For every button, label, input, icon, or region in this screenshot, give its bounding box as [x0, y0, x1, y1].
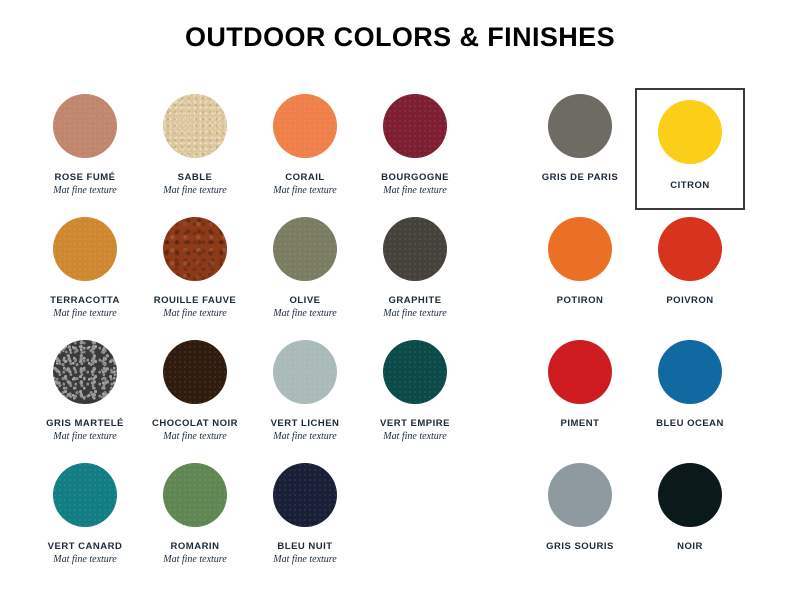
swatch-finish-label: Mat fine texture: [383, 185, 447, 197]
swatch-finish-label: Mat fine texture: [163, 554, 227, 566]
swatch-cell-gris-de-paris[interactable]: GRIS DE PARIS: [525, 88, 635, 184]
swatch-name: VERT EMPIRE: [380, 418, 450, 430]
swatch-cell-chocolat-noir[interactable]: CHOCOLAT NOIRMat fine texture: [140, 334, 250, 443]
swatch-finish-label: Mat fine texture: [273, 185, 337, 197]
swatch-cell-bourgogne[interactable]: BOURGOGNEMat fine texture: [360, 88, 470, 197]
swatch-cell-gris-martele[interactable]: GRIS MARTELÉMat fine texture: [30, 334, 140, 443]
color-swatch-disc[interactable]: [273, 94, 337, 158]
swatch-name: GRIS DE PARIS: [542, 172, 619, 184]
color-swatch-disc[interactable]: [548, 340, 612, 404]
color-swatch-disc[interactable]: [273, 463, 337, 527]
swatch-name: ROUILLE FAUVE: [154, 295, 237, 307]
swatch-cell-terracotta[interactable]: TERRACOTTAMat fine texture: [30, 211, 140, 320]
swatch-row: VERT CANARDMat fine textureROMARINMat fi…: [30, 457, 770, 580]
swatch-name: NOIR: [677, 541, 703, 553]
color-swatch-disc[interactable]: [658, 217, 722, 281]
swatch-name: VERT CANARD: [48, 541, 123, 553]
swatch-cell-vert-empire[interactable]: VERT EMPIREMat fine texture: [360, 334, 470, 443]
color-swatch-disc[interactable]: [163, 217, 227, 281]
swatch-name: BOURGOGNE: [381, 172, 449, 184]
color-swatch-disc[interactable]: [163, 340, 227, 404]
swatch-name: CHOCOLAT NOIR: [152, 418, 238, 430]
swatch-finish-label: Mat fine texture: [53, 431, 117, 443]
swatch-cell-romarin[interactable]: ROMARINMat fine texture: [140, 457, 250, 566]
swatch-name: POTIRON: [557, 295, 604, 307]
swatch-finish-label: Mat fine texture: [273, 431, 337, 443]
swatch-name: VERT LICHEN: [271, 418, 340, 430]
swatch-cell-rose-fume[interactable]: ROSE FUMÉMat fine texture: [30, 88, 140, 197]
swatch-name: CITRON: [670, 180, 709, 192]
swatch-name: CORAIL: [285, 172, 324, 184]
swatch-row: GRIS MARTELÉMat fine textureCHOCOLAT NOI…: [30, 334, 770, 457]
color-swatch-disc[interactable]: [163, 94, 227, 158]
swatch-cell-graphite[interactable]: GRAPHITEMat fine texture: [360, 211, 470, 320]
color-swatch-disc[interactable]: [383, 217, 447, 281]
swatch-finish-label: Mat fine texture: [53, 554, 117, 566]
swatch-name: OLIVE: [289, 295, 320, 307]
swatch-name: GRIS MARTELÉ: [46, 418, 124, 430]
color-swatch-disc[interactable]: [53, 94, 117, 158]
swatch-name: BLEU NUIT: [277, 541, 332, 553]
color-swatch-disc[interactable]: [53, 340, 117, 404]
swatch-row: TERRACOTTAMat fine textureROUILLE FAUVEM…: [30, 211, 770, 334]
swatch-row: ROSE FUMÉMat fine textureSABLEMat fine t…: [30, 88, 770, 211]
swatch-name: POIVRON: [666, 295, 713, 307]
swatch-cell-piment[interactable]: PIMENT: [525, 334, 635, 430]
swatch-name: BLEU OCEAN: [656, 418, 724, 430]
swatch-cell-sable[interactable]: SABLEMat fine texture: [140, 88, 250, 197]
swatch-cell-noir[interactable]: NOIR: [635, 457, 745, 553]
color-swatch-disc[interactable]: [273, 340, 337, 404]
swatch-cell-poivron[interactable]: POIVRON: [635, 211, 745, 307]
swatch-name: GRAPHITE: [388, 295, 441, 307]
color-swatch-disc[interactable]: [383, 340, 447, 404]
swatch-cell-olive[interactable]: OLIVEMat fine texture: [250, 211, 360, 320]
color-swatch-disc[interactable]: [658, 463, 722, 527]
swatch-cell-vert-lichen[interactable]: VERT LICHENMat fine texture: [250, 334, 360, 443]
color-swatch-disc[interactable]: [53, 217, 117, 281]
swatch-finish-label: Mat fine texture: [163, 431, 227, 443]
color-swatch-disc[interactable]: [273, 217, 337, 281]
swatch-cell-vert-canard[interactable]: VERT CANARDMat fine texture: [30, 457, 140, 566]
swatch-name: TERRACOTTA: [50, 295, 120, 307]
color-swatch-grid: ROSE FUMÉMat fine textureSABLEMat fine t…: [30, 88, 770, 580]
color-swatch-disc[interactable]: [658, 100, 722, 164]
swatch-finish-label: Mat fine texture: [383, 431, 447, 443]
swatch-finish-label: Mat fine texture: [383, 308, 447, 320]
color-swatch-disc[interactable]: [383, 94, 447, 158]
swatch-finish-label: Mat fine texture: [163, 185, 227, 197]
swatch-cell-bleu-ocean[interactable]: BLEU OCEAN: [635, 334, 745, 430]
color-swatch-disc[interactable]: [53, 463, 117, 527]
swatch-finish-label: Mat fine texture: [163, 308, 227, 320]
swatch-finish-label: Mat fine texture: [53, 185, 117, 197]
page-title: OUTDOOR COLORS & FINISHES: [0, 22, 800, 53]
color-swatch-disc[interactable]: [163, 463, 227, 527]
swatch-cell-bleu-nuit[interactable]: BLEU NUITMat fine texture: [250, 457, 360, 566]
swatch-name: ROMARIN: [171, 541, 220, 553]
swatch-name: SABLE: [178, 172, 213, 184]
swatch-cell-rouille-fauve[interactable]: ROUILLE FAUVEMat fine texture: [140, 211, 250, 320]
swatch-name: PIMENT: [561, 418, 600, 430]
swatch-name: GRIS SOURIS: [546, 541, 614, 553]
swatch-cell-corail[interactable]: CORAILMat fine texture: [250, 88, 360, 197]
color-swatch-disc[interactable]: [548, 94, 612, 158]
swatch-cell-potiron[interactable]: POTIRON: [525, 211, 635, 307]
swatch-finish-label: Mat fine texture: [273, 308, 337, 320]
swatch-finish-label: Mat fine texture: [273, 554, 337, 566]
color-swatch-disc[interactable]: [548, 463, 612, 527]
swatch-cell-citron[interactable]: CITRON: [635, 88, 745, 210]
swatch-cell-gris-souris[interactable]: GRIS SOURIS: [525, 457, 635, 553]
color-swatch-disc[interactable]: [548, 217, 612, 281]
swatch-finish-label: Mat fine texture: [53, 308, 117, 320]
color-swatch-disc[interactable]: [658, 340, 722, 404]
swatch-name: ROSE FUMÉ: [55, 172, 116, 184]
